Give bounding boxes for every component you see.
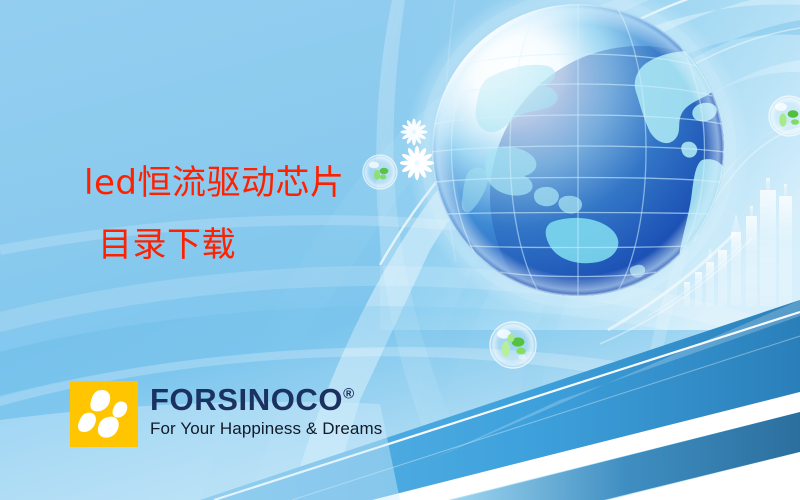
title-line-2: 目录下载 <box>98 228 344 262</box>
bubble-bottom-mid <box>490 322 536 368</box>
brand-text: FORSINOCO <box>150 382 343 417</box>
slide-canvas: led恒流驱动芯片 目录下载 FORSINOCO® <box>0 0 800 500</box>
brand-tagline: For Your Happiness & Dreams <box>150 420 382 437</box>
logo-wordmark: FORSINOCO® For Your Happiness & Dreams <box>150 381 382 437</box>
brand-name: FORSINOCO® <box>150 384 382 415</box>
company-logo: FORSINOCO® For Your Happiness & Dreams <box>70 381 382 447</box>
bubble-small-left <box>363 155 397 189</box>
slide-title: led恒流驱动芯片 目录下载 <box>84 166 344 262</box>
registered-trademark-icon: ® <box>343 386 355 403</box>
title-line-1: led恒流驱动芯片 <box>84 166 344 200</box>
four-petal-flower-icon <box>70 381 138 447</box>
